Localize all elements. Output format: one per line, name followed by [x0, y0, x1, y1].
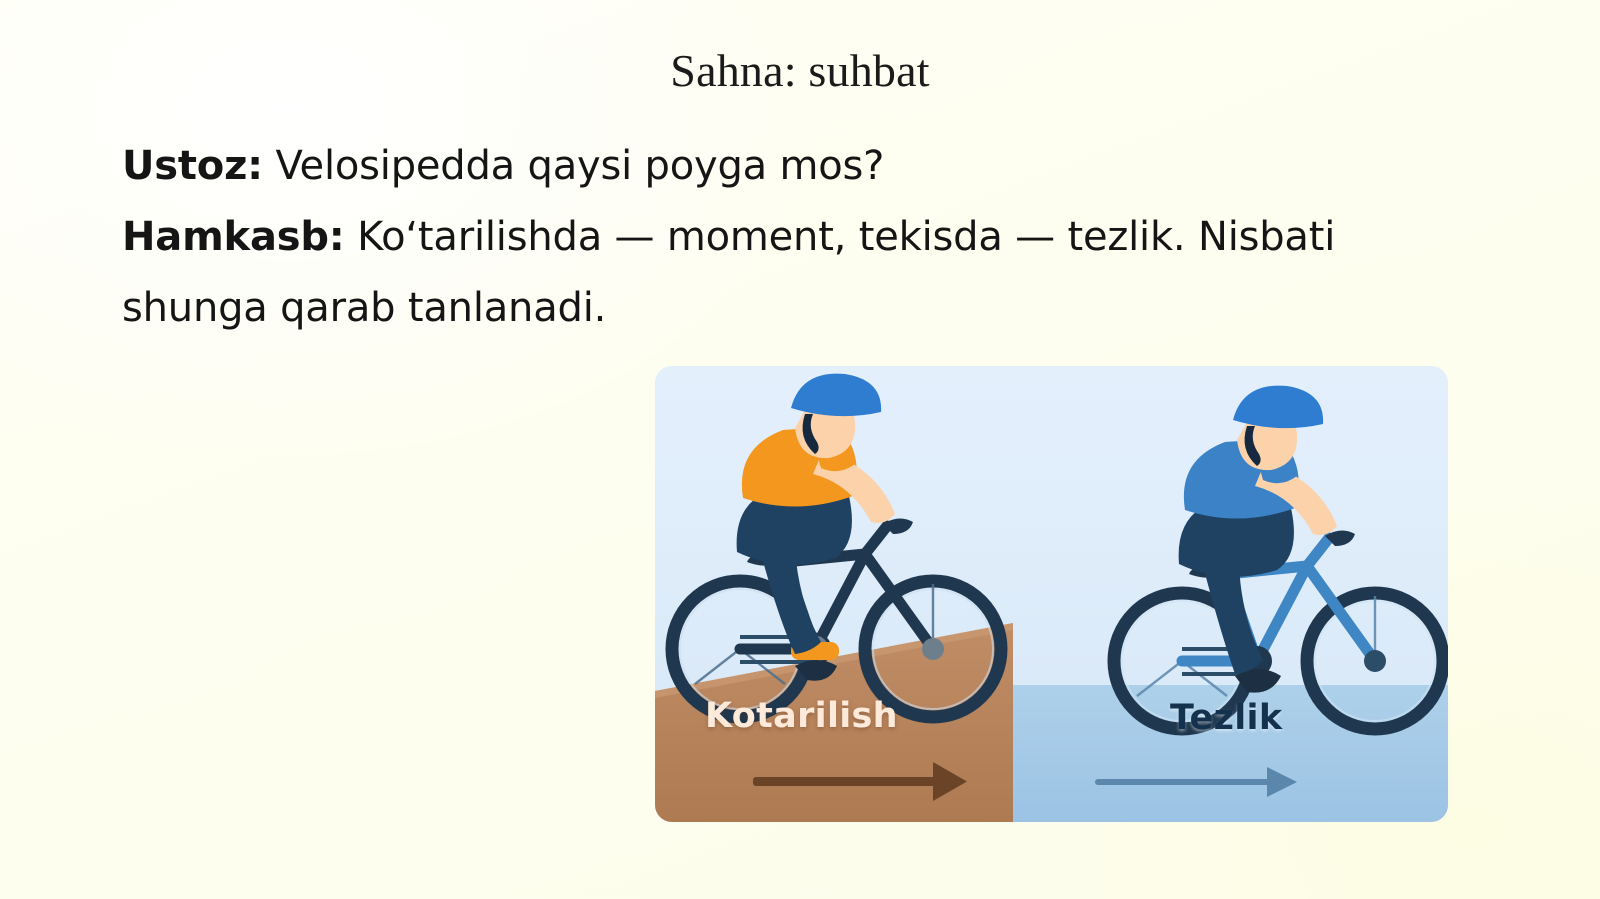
cyclists-illustration-svg — [655, 366, 1448, 822]
dialogue-block: Ustoz: Velosipedda qaysi poyga mos? Hamk… — [122, 131, 1442, 345]
panel-label-kotarilish: Kotarilish — [705, 696, 898, 736]
speaker-name-hamkasb: Hamkasb: — [122, 214, 345, 260]
slide-canvas: Sahna: suhbat Ustoz: Velosipedda qaysi p… — [0, 0, 1600, 899]
utterance-ustoz: Velosipedda qaysi poyga mos? — [263, 143, 884, 189]
right-bike-hub — [1364, 650, 1386, 672]
panel-label-tezlik: Tezlik — [1170, 698, 1282, 738]
left-bike-hub — [922, 638, 944, 660]
dialogue-line-2: Hamkasb: Ko‘tarilishda — moment, tekisda… — [122, 202, 1442, 344]
speaker-name-ustoz: Ustoz: — [122, 143, 263, 189]
page-title: Sahna: suhbat — [0, 46, 1600, 97]
illustration-card: Kotarilish Tezlik — [655, 366, 1448, 822]
flat-ground-highlight — [1000, 682, 1448, 685]
dialogue-line-1: Ustoz: Velosipedda qaysi poyga mos? — [122, 131, 1442, 202]
